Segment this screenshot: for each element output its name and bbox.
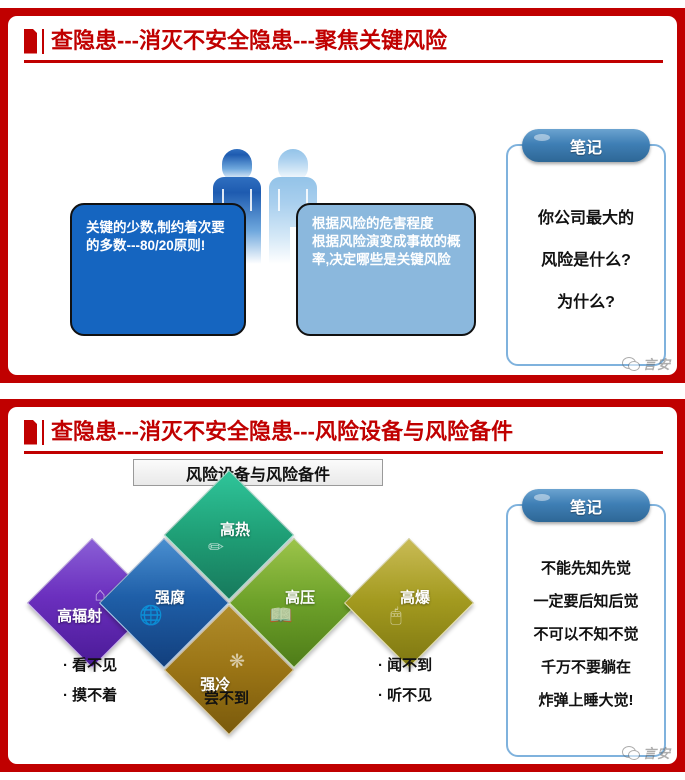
molecule-icon: ❋ [192,652,282,671]
notes-line: 千万不要躺在 [541,656,631,677]
bullet-left-1: · 看不见 [63,654,117,675]
title-accent-bar [42,29,44,54]
notes-line: 为什么? [557,288,615,312]
watermark-text: 言安 [643,354,671,373]
slide-2-title-row: 查隐患---消灭不安全隐患---风险设备与风险备件 [24,417,663,447]
slide-1: 查隐患---消灭不安全隐患---聚焦关键风险 关键的少数,制约着次要的多数---… [0,8,685,383]
wechat-icon [622,746,640,760]
notes-panel-slide-1: 笔记 你公司最大的 风险是什么? 为什么? [506,144,666,366]
slide-2-title-underline [24,451,663,454]
slide-2-canvas: 查隐患---消灭不安全隐患---风险设备与风险备件 风险设备与风险备件 ⌂ 高辐… [8,407,677,764]
notes-line: 不可以不知不觉 [533,623,638,644]
notes-body-slide-2: 不能先知先觉 一定要后知后觉 不可以不知不觉 千万不要躺在 炸弹上睡大觉! [516,536,656,731]
bottom-caption: 尝不到 [204,687,249,708]
bullet-right-2: · 听不见 [378,684,432,705]
diamond-label: 强腐 [125,586,215,607]
red-flag-icon [24,29,39,54]
pencil-icon: ✏ [171,539,261,558]
red-flag-icon [24,420,39,445]
diamond-label: 高爆 [370,586,460,607]
watermark-text: 言安 [643,743,671,762]
notes-title-badge: 笔记 [522,489,650,522]
slide-2-title: 查隐患---消灭不安全隐患---风险设备与风险备件 [51,421,513,443]
bullet-right-1: · 闻不到 [378,654,432,675]
book-icon: 📖 [236,607,326,626]
notes-panel-slide-2: 笔记 不能先知先觉 一定要后知后觉 不可以不知不觉 千万不要躺在 炸弹上睡大觉! [506,504,666,757]
notes-body-slide-1: 你公司最大的 风险是什么? 为什么? [516,176,656,340]
slide-1-title-row: 查隐患---消灭不安全隐患---聚焦关键风险 [24,26,663,56]
slide-1-canvas: 查隐患---消灭不安全隐患---聚焦关键风险 关键的少数,制约着次要的多数---… [8,16,677,375]
watermark-slide-1: 言安 [622,354,671,373]
diamond-label: 高压 [255,586,345,607]
slide-1-title: 查隐患---消灭不安全隐患---聚焦关键风险 [51,30,447,52]
globe-icon: 🌐 [106,607,196,626]
mouse-icon: 🖱 [351,607,441,626]
bullet-left-2: · 摸不着 [63,684,117,705]
title-accent-bar [42,420,44,445]
watermark-slide-2: 言安 [622,743,671,762]
notes-title-badge: 笔记 [522,129,650,162]
notes-line: 你公司最大的 [538,204,634,228]
key-minority-box: 关键的少数,制约着次要的多数---80/20原则! [70,203,246,336]
notes-line: 一定要后知后觉 [533,590,638,611]
slide-deck-page: 查隐患---消灭不安全隐患---聚焦关键风险 关键的少数,制约着次要的多数---… [0,0,685,780]
wechat-icon [622,357,640,371]
slide-1-title-underline [24,60,663,63]
risk-diamond-diagram: ⌂ 高辐射 高热 ✏ 强腐 🌐 高压 📖 ❋ 强冷 [8,479,488,729]
notes-line: 不能先知先觉 [541,557,631,578]
slide-2: 查隐患---消灭不安全隐患---风险设备与风险备件 风险设备与风险备件 ⌂ 高辐… [0,399,685,772]
notes-line: 风险是什么? [541,246,631,270]
diamond-label: 高热 [190,518,280,539]
diamond-explosion[interactable]: 高爆 🖱 [344,538,474,668]
risk-criteria-box: 根据风险的危害程度 根据风险演变成事故的概率,决定哪些是关键风险 [296,203,476,336]
notes-line: 炸弹上睡大觉! [539,689,634,710]
